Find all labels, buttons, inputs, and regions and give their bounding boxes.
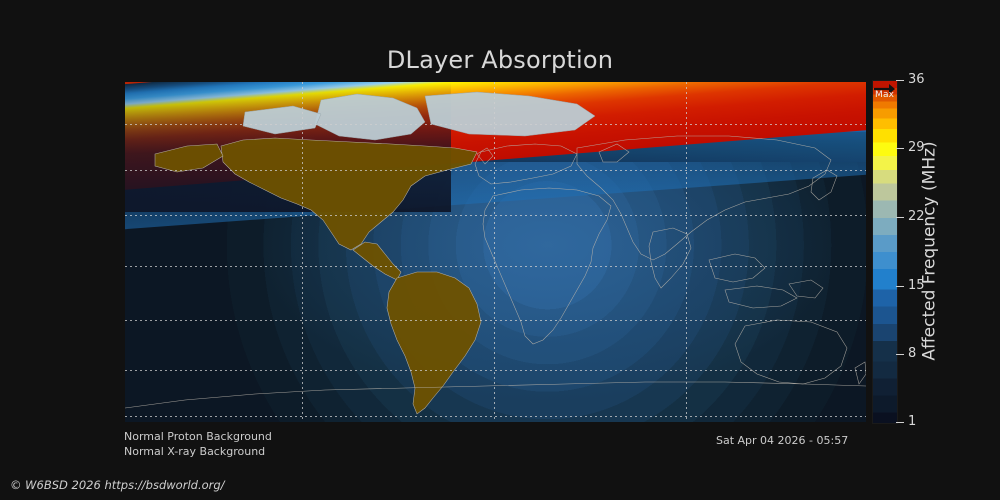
map-graticule bbox=[125, 82, 866, 422]
footer-credit: © W6BSD 2026 https://bsdworld.org/ bbox=[10, 478, 225, 492]
colorbar-tick bbox=[896, 148, 904, 149]
background-status-block: Normal Proton Background Normal X-ray Ba… bbox=[124, 429, 272, 459]
colorbar-tick-label: 8 bbox=[908, 346, 916, 361]
grid-line-horizontal bbox=[125, 416, 866, 417]
colorbar-gradient bbox=[873, 81, 897, 423]
colorbar[interactable] bbox=[872, 80, 898, 424]
grid-line-horizontal bbox=[125, 215, 866, 216]
grid-line-vertical bbox=[686, 82, 687, 422]
proton-background-status: Normal Proton Background bbox=[124, 429, 272, 444]
grid-line-horizontal bbox=[125, 266, 866, 267]
colorbar-tick bbox=[896, 286, 904, 287]
dlayer-absorption-page: DLayer Absorption bbox=[0, 0, 1000, 500]
world-map[interactable] bbox=[125, 82, 866, 422]
colorbar-tick-label: 1 bbox=[908, 414, 916, 429]
colorbar-tick bbox=[896, 422, 904, 423]
colorbar-tick bbox=[896, 80, 904, 81]
grid-line-horizontal bbox=[125, 370, 866, 371]
page-title: DLayer Absorption bbox=[0, 46, 1000, 74]
colorbar-axis-title: Affected Frequency (MHz) bbox=[918, 80, 942, 422]
colorbar-axis-title-text: Affected Frequency (MHz) bbox=[920, 141, 940, 360]
grid-line-horizontal bbox=[125, 320, 866, 321]
timestamp-label: Sat Apr 04 2026 - 05:57 bbox=[716, 434, 848, 447]
grid-line-horizontal bbox=[125, 124, 866, 125]
colorbar-tick bbox=[896, 217, 904, 218]
grid-line-vertical bbox=[494, 82, 495, 422]
colorbar-max-label: Max bbox=[875, 90, 894, 100]
grid-line-vertical bbox=[302, 82, 303, 422]
colorbar-tick bbox=[896, 354, 904, 355]
grid-line-horizontal bbox=[125, 170, 866, 171]
xray-background-status: Normal X-ray Background bbox=[124, 444, 272, 459]
